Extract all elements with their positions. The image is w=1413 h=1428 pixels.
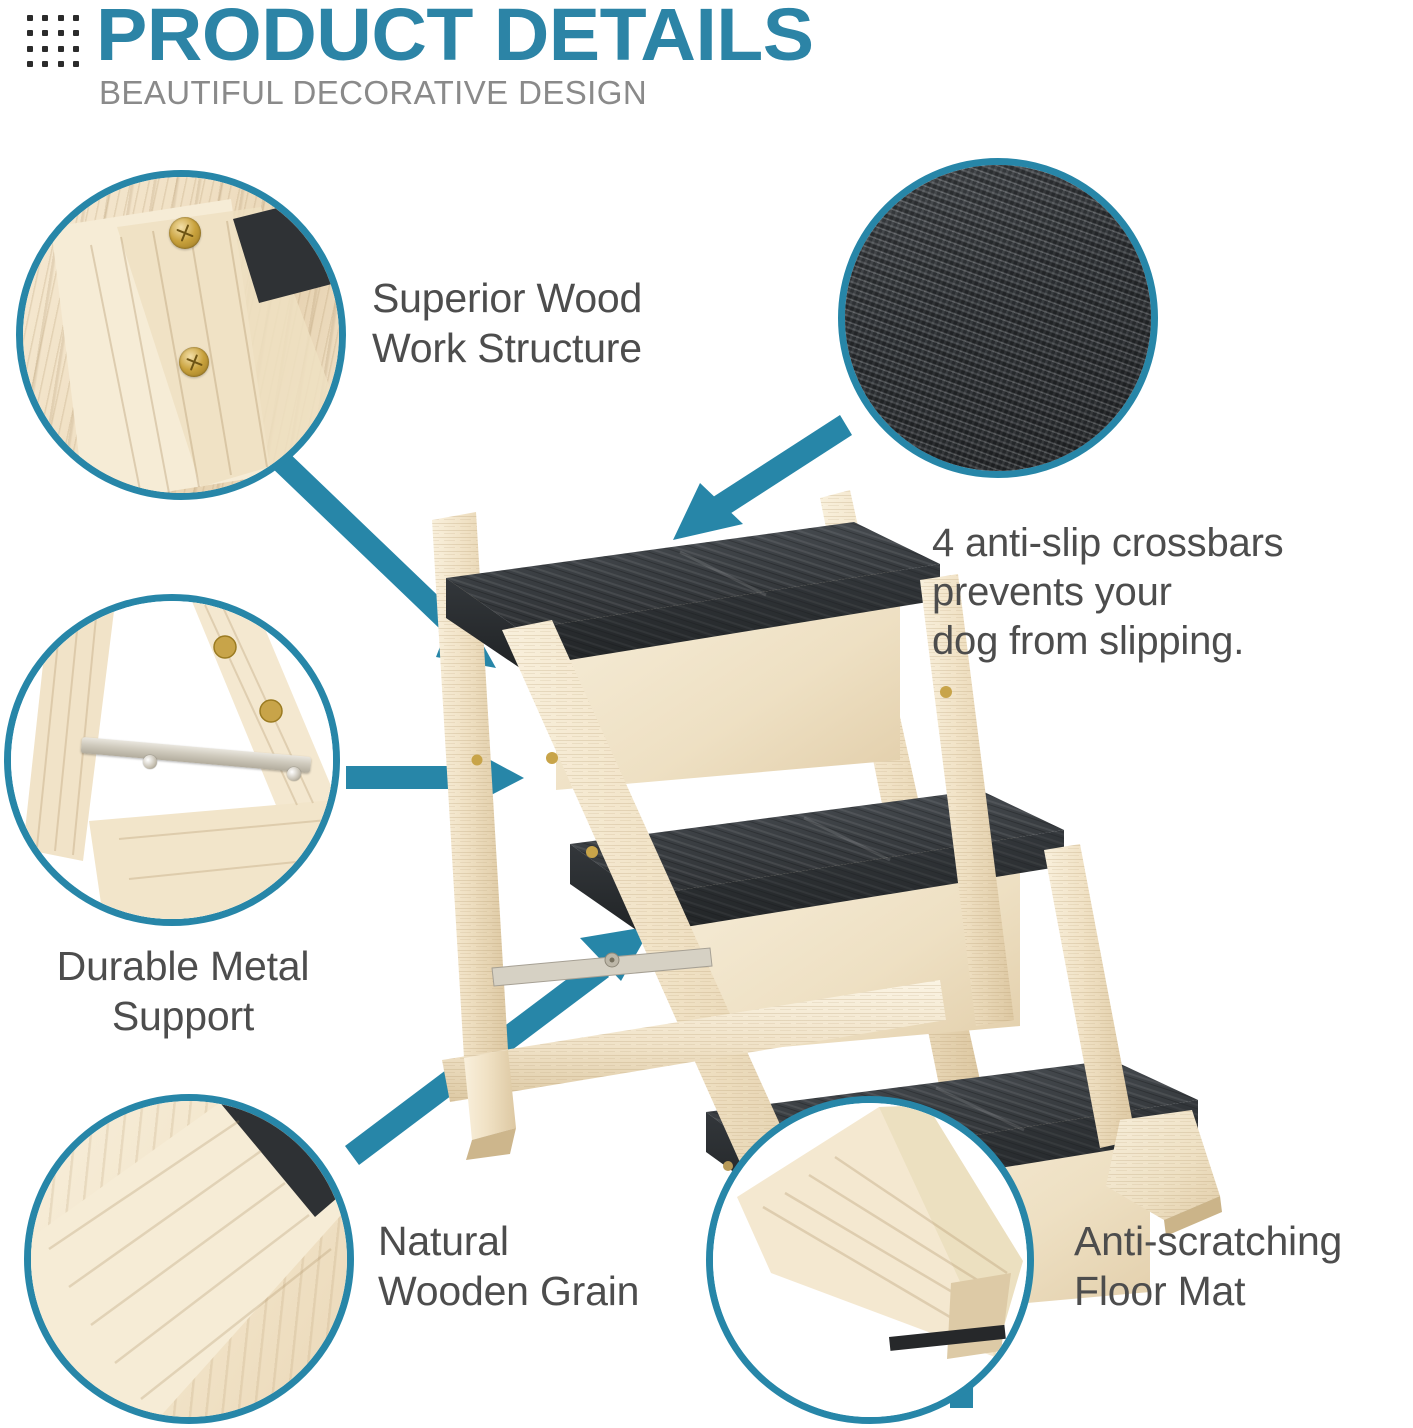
wood-grain-photo: [29, 1099, 349, 1419]
callout-circle-floor-mat: [706, 1096, 1034, 1424]
product-left-leg-bottom: [464, 1050, 516, 1160]
callout-circle-wood-grain: [24, 1094, 354, 1424]
page-title: PRODUCT DETAILS: [96, 0, 814, 72]
metal-pin-icon: [287, 767, 301, 781]
dot-grid-icon: [22, 10, 84, 72]
callout-circle-wood-structure: [16, 170, 346, 500]
metal-pin-icon: [143, 755, 157, 769]
page-header: PRODUCT DETAILS BEAUTIFUL DECORATIVE DES…: [0, 0, 1413, 130]
callout-circle-metal-support: [4, 594, 340, 926]
callout-label-anti-slip-crossbars: 4 anti-slip crossbars prevents your dog …: [932, 519, 1283, 665]
callout-label-wood-structure: Superior Wood Work Structure: [372, 273, 642, 373]
callout-label-metal-support: Durable Metal Support: [8, 941, 358, 1041]
page-subtitle: BEAUTIFUL DECORATIVE DESIGN: [99, 76, 647, 109]
brass-screw-icon: [179, 347, 209, 377]
wood-joint-photo: [21, 175, 341, 495]
carpet-texture-photo: [843, 163, 1153, 473]
brass-screw-icon: [169, 217, 201, 249]
callout-label-floor-mat: Anti-scratching Floor Mat: [1074, 1216, 1342, 1316]
callout-label-wooden-grain: Natural Wooden Grain: [378, 1216, 639, 1316]
metal-hinge-photo: [9, 599, 335, 921]
callout-circle-anti-slip-carpet: [838, 158, 1158, 478]
leg-foot-floor-mat-photo: [711, 1101, 1029, 1419]
